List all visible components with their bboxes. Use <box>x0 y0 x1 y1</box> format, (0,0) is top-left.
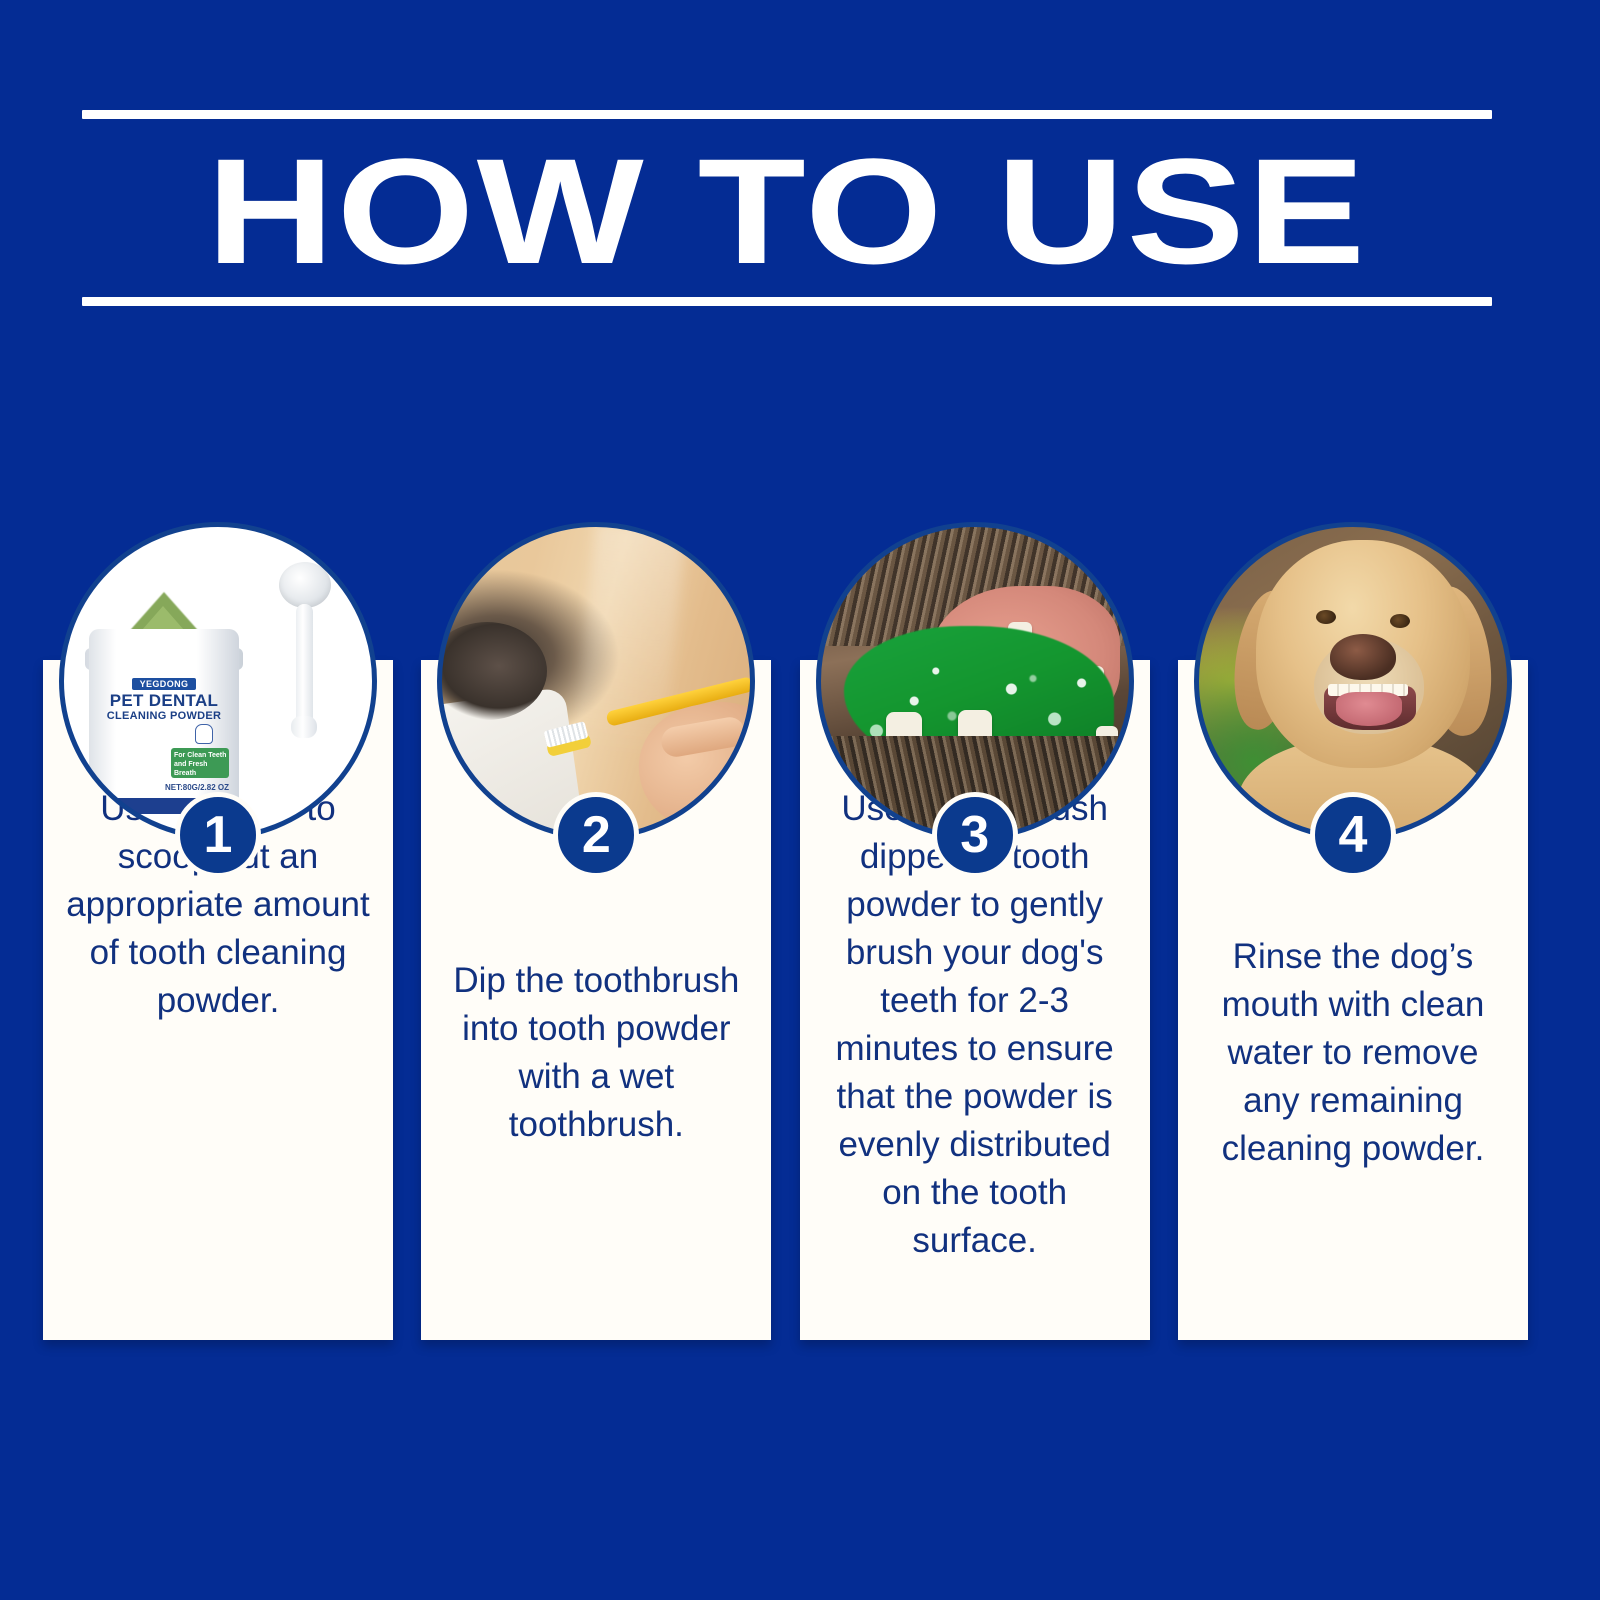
step-card-3[interactable]: 3 Use a toothbrush dipped in tooth powde… <box>800 660 1150 1340</box>
dog-nose <box>1330 634 1396 680</box>
step-text-2: Dip the toothbrush into tooth powder wit… <box>439 957 753 1149</box>
toothbrush-dog-image <box>441 526 751 836</box>
step-number-badge-3: 3 <box>932 792 1018 878</box>
product-name-line1: PET DENTAL <box>97 692 231 710</box>
net-weight: NET:80G/2.82 OZ <box>165 783 229 792</box>
step-photo-2: 2 <box>437 522 755 840</box>
spoon-head <box>279 562 331 608</box>
step-number-badge-1: 1 <box>175 792 261 878</box>
spoon-tip <box>291 716 317 738</box>
step-photo-4: 4 <box>1194 522 1512 840</box>
header-rule-bottom <box>82 297 1492 306</box>
header-rule-top <box>82 110 1492 119</box>
infographic-page: HOW TO USE YEGDONG PET DENTAL <box>0 0 1600 1600</box>
spoon-stem <box>296 604 313 726</box>
page-title: HOW TO USE <box>0 119 1600 297</box>
label-dog-illustration <box>99 744 155 790</box>
step-number-badge-4: 4 <box>1310 792 1396 878</box>
product-name-line2: CLEANING POWDER <box>97 710 231 723</box>
header: HOW TO USE <box>82 110 1492 306</box>
step-number-badge-2: 2 <box>553 792 639 878</box>
dog-eye-left <box>1316 610 1336 624</box>
product-jar-image: YEGDONG PET DENTAL CLEANING POWDER For C… <box>63 526 373 836</box>
dog-tongue <box>1336 692 1402 726</box>
step-photo-3: 3 <box>816 522 1134 840</box>
step-card-4[interactable]: 4 Rinse the dog’s mouth with clean water… <box>1178 660 1528 1340</box>
brand-name: YEGDONG <box>132 678 197 690</box>
claim-badge: For Clean Teeth and Fresh Breath <box>171 748 229 778</box>
step-card-1[interactable]: YEGDONG PET DENTAL CLEANING POWDER For C… <box>43 660 393 1340</box>
dog-teeth-foam-image <box>820 526 1130 836</box>
step-text-4: Rinse the dog’s mouth with clean water t… <box>1196 933 1510 1173</box>
step-card-2[interactable]: 2 Dip the toothbrush into tooth powder w… <box>421 660 771 1340</box>
step-photo-1: YEGDONG PET DENTAL CLEANING POWDER For C… <box>59 522 377 840</box>
tooth-icon <box>195 724 213 744</box>
jar-label: YEGDONG PET DENTAL CLEANING POWDER For C… <box>97 674 231 792</box>
steps-grid: YEGDONG PET DENTAL CLEANING POWDER For C… <box>43 660 1528 1340</box>
dog-eye-right <box>1390 614 1410 628</box>
happy-dog-image <box>1198 526 1508 836</box>
